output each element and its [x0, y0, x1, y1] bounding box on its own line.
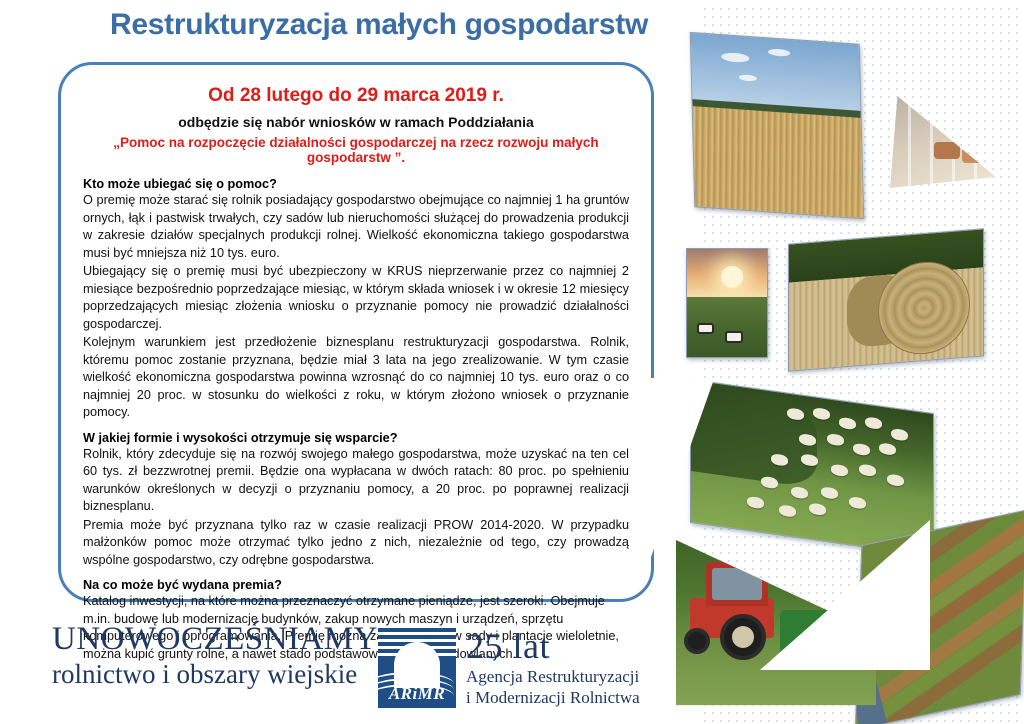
agency-name-line-2: i Modernizacji Rolnictwa	[466, 688, 640, 709]
arimr-logo-icon: ARiMR	[378, 628, 456, 708]
section-paragraph-1-2: Ubiegający się o premię musi być ubezpie…	[83, 263, 629, 333]
page-title: Restrukturyzacja małych gospodarstw	[110, 8, 670, 42]
slogan: UNOWOCZEŚNIAMY rolnictwo i obszary wiejs…	[52, 622, 378, 690]
barn-cattle-photo	[890, 96, 996, 188]
section-paragraph-2-2: Premia może być przyznana tylko raz w cz…	[83, 517, 629, 570]
headline-subtitle: odbędzie się nabór wniosków w ramach Pod…	[83, 114, 629, 130]
sunset-pasture-photo	[686, 248, 768, 358]
slogan-line-2: rolnictwo i obszary wiejskie	[52, 659, 378, 690]
anniversary-label: 25 lat	[466, 628, 640, 664]
arimr-logo-text: 25 lat Agencja Restrukturyzacji i Modern…	[466, 628, 640, 708]
hay-bale-photo	[788, 228, 984, 371]
section-paragraph-2-1: Rolnik, który zdecyduje się na rozwój sw…	[83, 446, 629, 516]
headline-measure: „Pomoc na rozpoczęcie działalności gospo…	[83, 135, 629, 165]
photo-collage	[640, 0, 1024, 724]
section-question-3: Na co może być wydana premia?	[83, 578, 629, 592]
poster-root: Restrukturyzacja małych gospodarstw Od 2…	[0, 0, 1024, 724]
section-question-1: Kto może ubiegać się o pomoc?	[83, 177, 629, 191]
info-card-body: Od 28 lutego do 29 marca 2019 r. odbędzi…	[61, 65, 651, 674]
slogan-line-1: UNOWOCZEŚNIAMY	[52, 622, 378, 657]
sheep-flock-photo	[690, 379, 934, 557]
section-question-2: W jakiej formie i wysokości otrzymuje si…	[83, 431, 629, 445]
agency-name-line-1: Agencja Restrukturyzacji	[466, 667, 640, 688]
headline-dates: Od 28 lutego do 29 marca 2019 r.	[83, 85, 629, 107]
arimr-logo: ARiMR 25 lat Agencja Restrukturyzacji i …	[378, 628, 640, 708]
wheat-field-photo	[690, 32, 865, 219]
arimr-mark-label: ARiMR	[378, 684, 456, 704]
info-card: Od 28 lutego do 29 marca 2019 r. odbędzi…	[58, 62, 654, 602]
section-paragraph-1-3: Kolejnym warunkiem jest przedłożenie biz…	[83, 334, 629, 422]
section-paragraph-1-1: O premię może starać się rolnik posiadaj…	[83, 192, 629, 262]
